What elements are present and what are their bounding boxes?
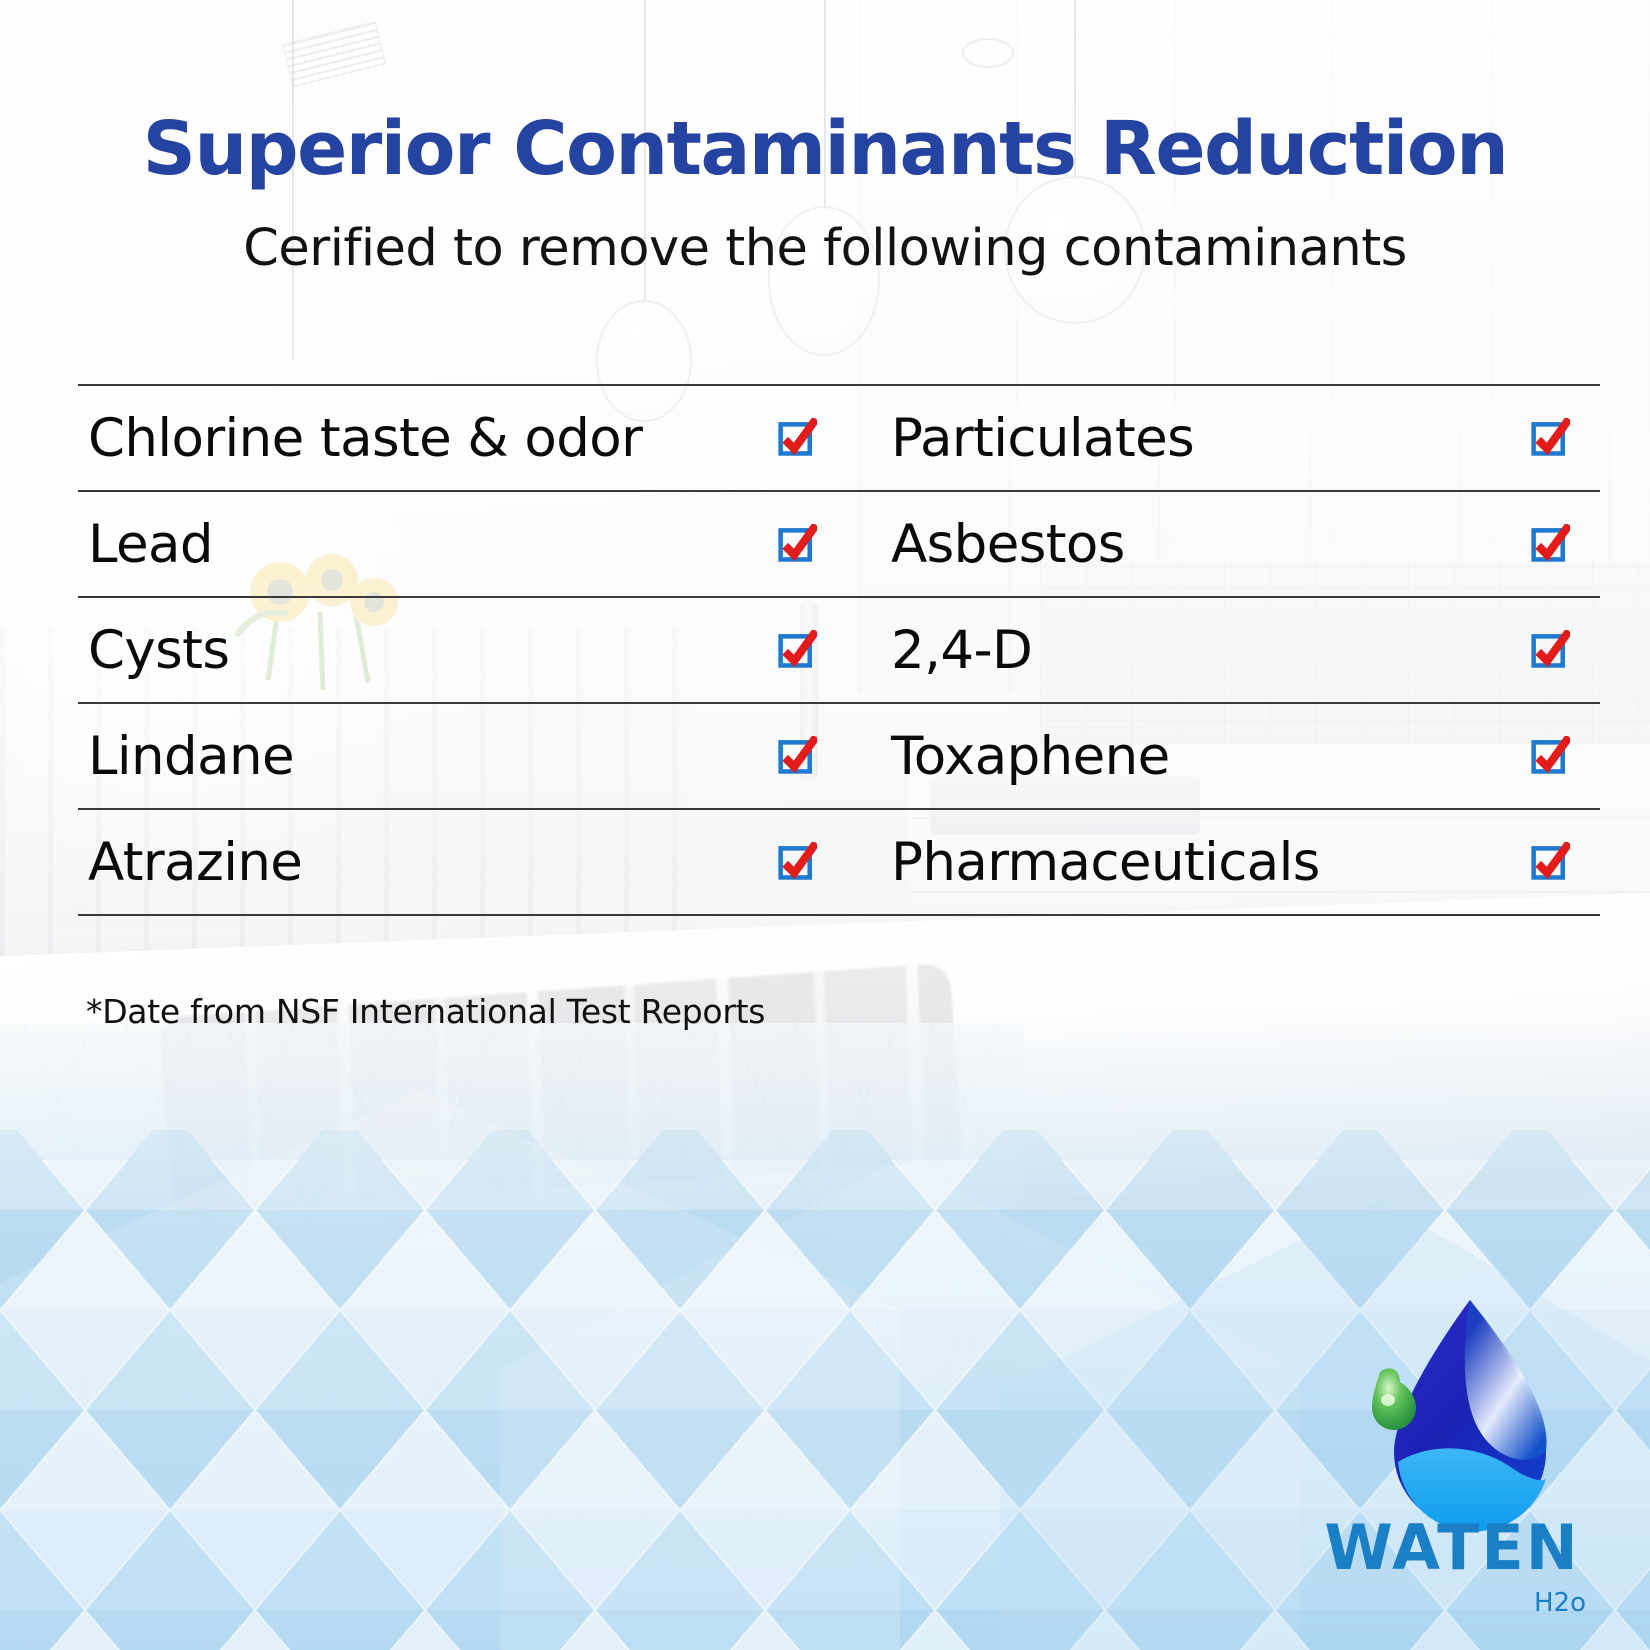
checked-checkbox-icon[interactable] — [1530, 524, 1570, 564]
footnote: *Date from NSF International Test Report… — [86, 992, 765, 1031]
checked-checkbox-icon[interactable] — [777, 524, 817, 564]
table-cell-right: Asbestos — [839, 492, 1600, 596]
page-title: Superior Contaminants Reduction — [0, 112, 1650, 186]
checked-checkbox-icon[interactable] — [1530, 842, 1570, 882]
contaminant-label: Asbestos — [839, 514, 1125, 575]
brand-logo: WATEN H2o — [1302, 1292, 1602, 1632]
contaminant-label: Particulates — [839, 408, 1194, 469]
checked-checkbox-icon[interactable] — [777, 736, 817, 776]
table-cell-left: Lindane — [78, 704, 839, 808]
checked-checkbox-icon[interactable] — [777, 630, 817, 670]
logo-submark: H2o — [1534, 1588, 1586, 1618]
contaminants-table: Chlorine taste & odorParticulatesLeadAsb… — [78, 384, 1600, 916]
poster-canvas: Superior Contaminants Reduction Cerified… — [0, 0, 1650, 1650]
table-row: LeadAsbestos — [78, 492, 1600, 596]
table-rule — [78, 914, 1600, 916]
table-cell-right: Particulates — [839, 386, 1600, 490]
table-cell-left: Lead — [78, 492, 839, 596]
contaminant-label: Atrazine — [78, 832, 302, 893]
table-cell-right: Toxaphene — [839, 704, 1600, 808]
contaminant-label: Lindane — [78, 726, 294, 787]
table-row: Chlorine taste & odorParticulates — [78, 386, 1600, 490]
table-row: Cysts2,4-D — [78, 598, 1600, 702]
contaminant-label: 2,4-D — [839, 620, 1032, 681]
table-cell-left: Atrazine — [78, 810, 839, 914]
checked-checkbox-icon[interactable] — [1530, 736, 1570, 776]
table-row: AtrazinePharmaceuticals — [78, 810, 1600, 914]
content-layer: Superior Contaminants Reduction Cerified… — [0, 0, 1650, 1650]
contaminant-label: Chlorine taste & odor — [78, 408, 642, 469]
checked-checkbox-icon[interactable] — [777, 842, 817, 882]
table-cell-left: Chlorine taste & odor — [78, 386, 839, 490]
page-subtitle: Cerified to remove the following contami… — [0, 222, 1650, 276]
logo-wordmark: WATEN — [1302, 1511, 1602, 1584]
checked-checkbox-icon[interactable] — [1530, 418, 1570, 458]
table-cell-left: Cysts — [78, 598, 839, 702]
checked-checkbox-icon[interactable] — [777, 418, 817, 458]
contaminant-label: Toxaphene — [839, 726, 1170, 787]
contaminant-label: Lead — [78, 514, 213, 575]
table-cell-right: 2,4-D — [839, 598, 1600, 702]
checked-checkbox-icon[interactable] — [1530, 630, 1570, 670]
table-cell-right: Pharmaceuticals — [839, 810, 1600, 914]
table-row: LindaneToxaphene — [78, 704, 1600, 808]
contaminant-label: Cysts — [78, 620, 229, 681]
water-droplet-icon — [1302, 1292, 1602, 1542]
contaminant-label: Pharmaceuticals — [839, 832, 1320, 893]
